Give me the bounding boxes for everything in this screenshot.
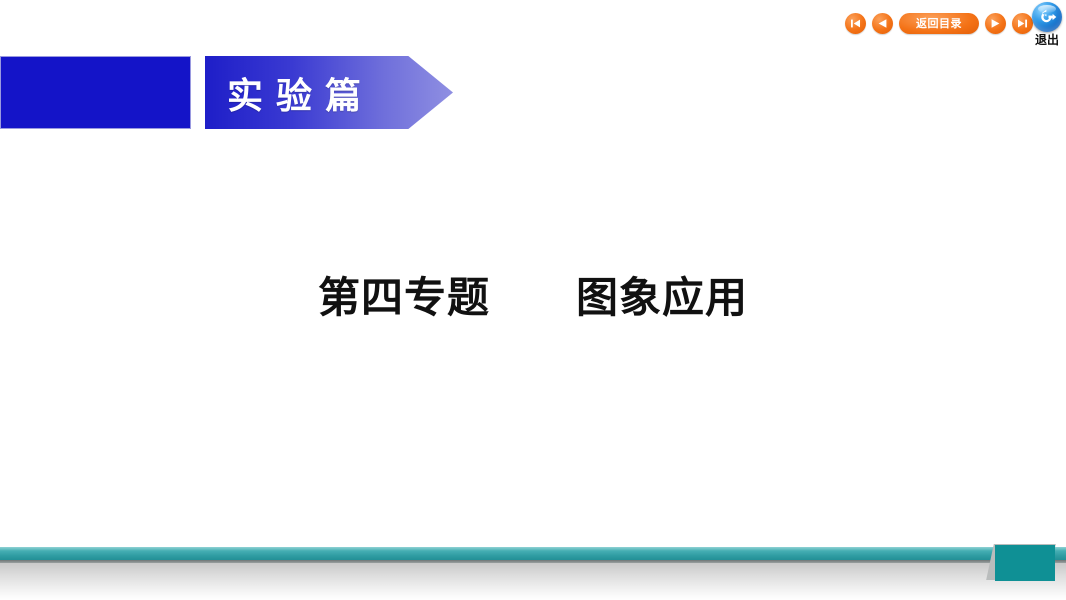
banner-solid-block [0,56,191,129]
play-forward-icon [989,17,1002,30]
return-to-contents-label: 返回目录 [916,15,962,31]
next-slide-button[interactable] [985,13,1006,34]
banner-arrow-shape: 实验篇 [205,56,453,129]
return-to-contents-button[interactable]: 返回目录 [899,13,979,34]
exit-label: 退出 [1028,33,1066,47]
footer-gradient [0,563,1066,600]
footer-teal-square [995,545,1055,581]
play-back-icon [876,17,889,30]
first-slide-button[interactable] [845,13,866,34]
skip-back-icon [849,17,862,30]
slide-navigation-bar: 返回目录 [845,11,1033,35]
footer-teal-bar [0,547,1066,560]
previous-slide-button[interactable] [872,13,893,34]
banner-title: 实验篇 [227,67,374,119]
page-title: 第四专题 图象应用 [0,264,1066,325]
footer-shadow-line [0,560,1066,563]
exit-globe-icon [1032,2,1062,32]
exit-button[interactable]: 退出 [1028,2,1066,47]
